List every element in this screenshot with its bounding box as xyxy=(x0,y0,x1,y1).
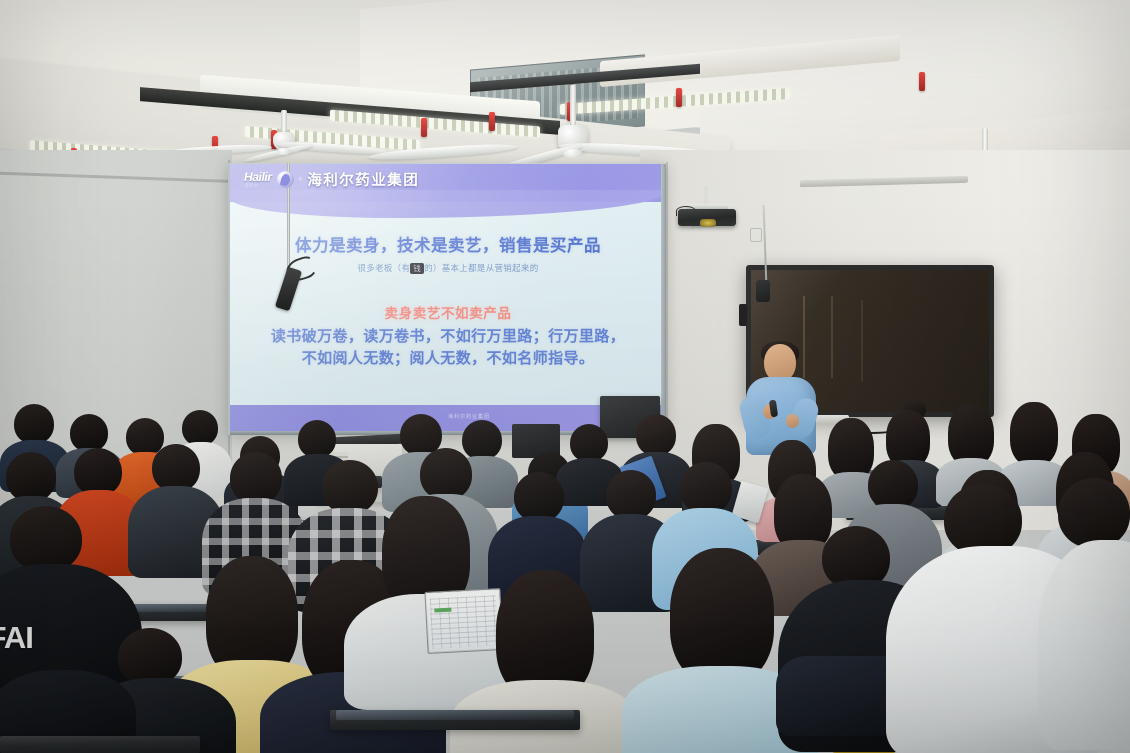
logo-swoosh-icon xyxy=(277,171,294,188)
desk xyxy=(0,736,200,753)
slide-subline-before: 很多老板（有 xyxy=(357,263,410,273)
hailir-logo: Hailir 海利尔 ® 海利尔药业集团 xyxy=(244,169,419,190)
slide-body-line-2: 不如阅人无数；阅人无数，不如名师指导。 xyxy=(240,348,656,369)
logo-wordmark: Hailir xyxy=(244,171,272,183)
red-clip xyxy=(421,118,427,137)
logo-wordmark-sub: 海利尔 xyxy=(244,184,272,189)
projector-label: projector xyxy=(692,224,713,229)
slide-subline-redacted: 钱 xyxy=(410,263,424,274)
screen-pull-handle[interactable] xyxy=(756,280,770,302)
desk-surface xyxy=(336,710,574,720)
red-clip xyxy=(919,72,925,91)
screen-edge xyxy=(661,164,666,435)
classroom-photo: Hailir 海利尔 ® 海利尔药业集团 体力是卖身，技术是卖艺，销售是买产品 … xyxy=(0,0,1130,753)
ceiling-fan xyxy=(214,110,354,154)
wall-outlet-icon xyxy=(750,228,762,242)
slide-headline: 体力是卖身，技术是卖艺，销售是买产品 xyxy=(240,232,656,256)
instructor xyxy=(744,344,818,454)
slide-red-heading: 卖身卖艺不如卖产品 xyxy=(240,302,656,322)
slide-subline-after: 的）基本上都是从营销起来的 xyxy=(424,263,538,273)
ceiling-fan xyxy=(478,85,668,143)
trademark-symbol: ® xyxy=(299,177,303,183)
red-clip xyxy=(676,88,682,107)
slide-body-line-1: 读书破万卷，读万卷书，不如行万里路；行万里路， xyxy=(240,326,656,347)
logo-company-name: 海利尔药业集团 xyxy=(307,169,419,190)
whiteboard-side-button[interactable] xyxy=(739,304,747,326)
instructor-hand-right xyxy=(786,414,799,428)
jacket-draped xyxy=(776,656,896,736)
projection-screen: Hailir 海利尔 ® 海利尔药业集团 体力是卖身，技术是卖艺，销售是买产品 … xyxy=(228,163,666,435)
student xyxy=(1046,478,1130,748)
